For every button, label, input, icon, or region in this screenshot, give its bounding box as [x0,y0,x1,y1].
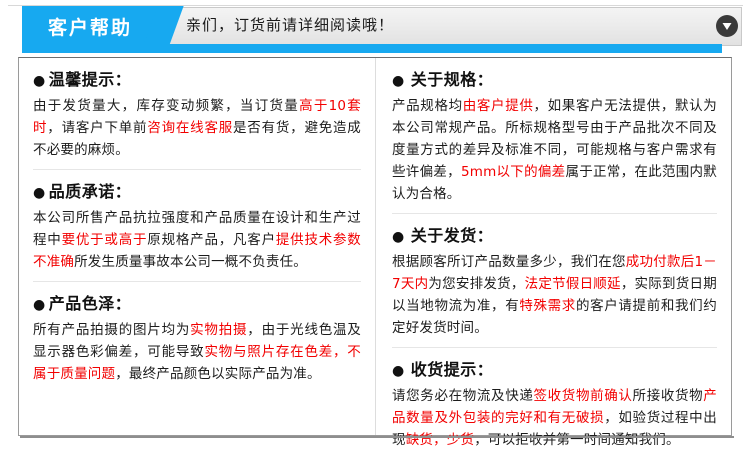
section-heading-text: 产品色泽： [49,294,132,313]
chevron-down-circle-icon[interactable] [716,15,738,37]
bullet-icon: ● [392,73,405,89]
text-run-highlight: 5mm以下的偏差 [461,164,566,180]
text-run-highlight: 特殊需求 [519,298,576,314]
section-about-shipping: ●关于发货： 根据顾客所订产品数量多少，我们在您成功付款后1－7天内为您安排发货… [392,213,717,347]
text-run-highlight: 缺货，少货 [406,432,475,448]
text-run: 产品规格均 [392,98,463,114]
content-panel: ●温馨提示： 由于发货量大，库存变动频繁，当订货量高于10套时，请客户下单前咨询… [18,57,732,436]
section-receiving-tips: ●收货提示： 请您务必在物流及快递签收货物前确认所接收货物产品数量及外包装的完好… [392,347,717,459]
notice-text: 亲们，订货前请详细阅读哦！ [186,14,394,35]
bullet-icon: ● [33,73,46,89]
section-quality-promise: ●品质承诺： 本公司所售产品抗拉强度和产品质量在设计和生产过程中要优于或高于原规… [33,169,361,281]
text-run: 原规格产品，凡客户 [147,232,276,248]
section-body: 请您务必在物流及快递签收货物前确认所接收货物产品数量及外包装的完好和有无破损，如… [392,385,717,451]
section-body: 所有产品拍摄的图片均为实物拍摄，由于光线色温及显示器色彩偏差，可能导致实物与照片… [33,319,361,385]
text-run: 所发生质量事故本公司一概不负责任。 [74,254,307,270]
section-heading-text: 收货提示： [411,360,494,379]
right-column: ●关于规格： 产品规格均由客户提供，如果客户无法提供，默认为本公司常规产品。所标… [375,58,731,435]
section-about-specs: ●关于规格： 产品规格均由客户提供，如果客户无法提供，默认为本公司常规产品。所标… [392,58,717,213]
header: 亲们，订货前请详细阅读哦！ 客户帮助 [0,0,750,58]
section-body: 根据顾客所订产品数量多少，我们在您成功付款后1－7天内为您安排发货，法定节假日顺… [392,251,717,339]
text-run: 所接收货物 [633,388,704,404]
text-run-highlight: 实物拍摄 [190,322,247,338]
brand-tab-label: 客户帮助 [48,13,132,40]
section-heading-text: 温馨提示： [49,70,132,89]
bullet-icon: ● [392,229,405,245]
bullet-icon: ● [33,185,46,201]
text-run: ，请客户下单前 [47,120,147,136]
section-heading-text: 品质承诺： [49,182,132,201]
text-run: 所有产品拍摄的图片均为 [33,322,190,338]
section-heading: ●温馨提示： [33,68,361,93]
section-heading: ●产品色泽： [33,292,361,317]
bullet-icon: ● [392,363,405,379]
section-warm-tips: ●温馨提示： 由于发货量大，库存变动频繁，当订货量高于10套时，请客户下单前咨询… [33,58,361,169]
section-heading: ●品质承诺： [33,180,361,205]
bullet-icon: ● [33,297,46,313]
section-heading-text: 关于规格： [411,70,494,89]
section-product-color: ●产品色泽： 所有产品拍摄的图片均为实物拍摄，由于光线色温及显示器色彩偏差，可能… [33,281,361,393]
text-run-highlight: 法定节假日顺延 [525,276,621,292]
section-body: 产品规格均由客户提供，如果客户无法提供，默认为本公司常规产品。所标规格型号由于产… [392,95,717,205]
text-run: 由于发货量大，库存变动频繁，当订货量 [33,98,299,114]
text-run: 为您安排发货， [428,276,524,292]
left-column: ●温馨提示： 由于发货量大，库存变动频繁，当订货量高于10套时，请客户下单前咨询… [19,58,375,435]
text-run: 根据顾客所订产品数量多少，我们在您 [392,254,626,270]
section-heading-text: 关于发货： [411,226,494,245]
text-run: 请您务必在物流及快递 [392,388,534,404]
text-run: ，最终产品颜色以实际产品为准。 [115,366,321,382]
section-heading: ●关于规格： [392,68,717,93]
text-run-highlight: 咨询在线客服 [147,120,233,136]
text-run-highlight: 签收货物前确认 [534,388,633,404]
section-heading: ●关于发货： [392,224,717,249]
text-run-highlight: 要优于或高于 [62,232,148,248]
panel-bottom-shadow [20,436,734,438]
section-body: 由于发货量大，库存变动频繁，当订货量高于10套时，请客户下单前咨询在线客服是否有… [33,95,361,161]
text-run: ，可以拒收并第一时间通知我们。 [474,432,680,448]
section-body: 本公司所售产品抗拉强度和产品质量在设计和生产过程中要优于或高于原规格产品，凡客户… [33,207,361,273]
text-run-highlight: 由客户提供 [463,98,534,114]
section-heading: ●收货提示： [392,358,717,383]
accent-bar [22,44,722,53]
customer-help-panel: 亲们，订货前请详细阅读哦！ 客户帮助 ●温馨提示： 由于发货量大，库存变动频繁，… [0,0,750,460]
